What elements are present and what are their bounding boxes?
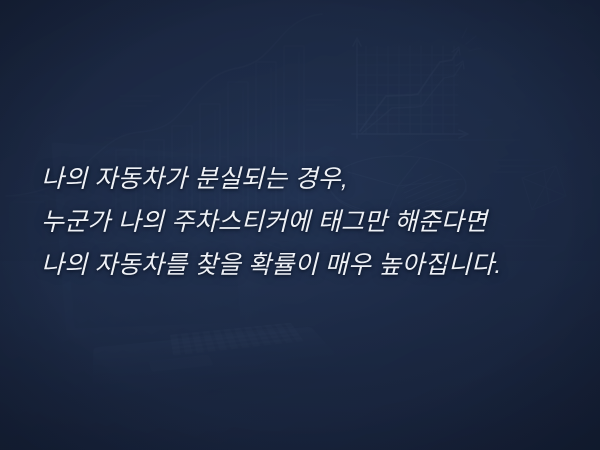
slide-canvas: 나의 자동차가 분실되는 경우, 누군가 나의 주차스티커에 태그만 해준다면 … bbox=[0, 0, 600, 450]
caption-line-1: 나의 자동차가 분실되는 경우, bbox=[41, 158, 561, 201]
caption-line-2: 누군가 나의 주차스티커에 태그만 해준다면 bbox=[41, 201, 561, 244]
caption-line-3: 나의 자동차를 찾을 확률이 매우 높아집니다. bbox=[41, 244, 561, 287]
caption-block: 나의 자동차가 분실되는 경우, 누군가 나의 주차스티커에 태그만 해준다면 … bbox=[41, 158, 561, 287]
